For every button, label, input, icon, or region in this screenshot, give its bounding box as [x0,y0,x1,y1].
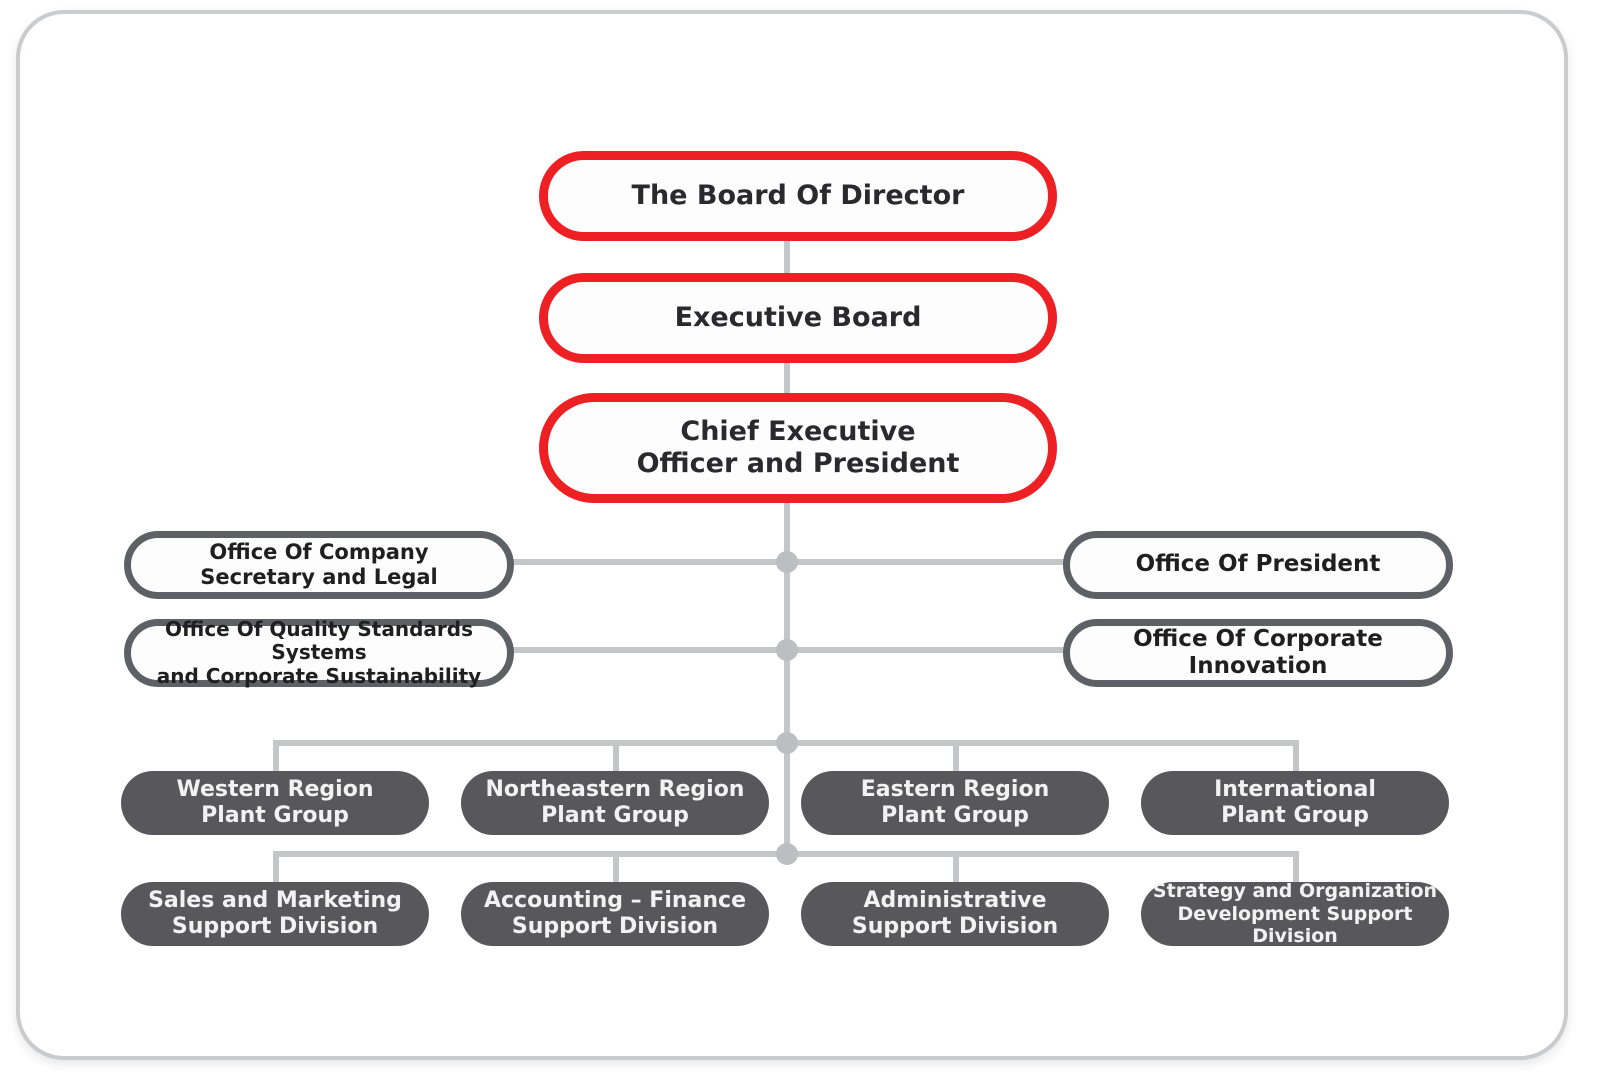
node-international-plant-group[interactable]: International Plant Group [1141,771,1449,835]
junction-dot-office-row2 [776,639,798,661]
connector-support-drop-1 [273,851,279,883]
node-label: Eastern Region Plant Group [851,777,1060,829]
node-office-of-president[interactable]: Office Of President [1063,531,1453,599]
node-label: The Board Of Director [622,180,975,212]
node-label: Office Of President [1126,551,1391,578]
connector-office-row2-left [513,647,787,653]
connector-office-row1-left [513,559,787,565]
node-label: International Plant Group [1204,777,1386,829]
node-label: Office Of Quality Standards Systems and … [131,618,507,689]
node-northeastern-region-plant-group[interactable]: Northeastern Region Plant Group [461,771,769,835]
connector-support-drop-4 [1293,851,1299,883]
node-label: Chief Executive Officer and President [627,416,970,480]
junction-dot-support-bus [776,843,798,865]
junction-dot-plant-bus [776,732,798,754]
connector-plant-drop-3 [953,740,959,772]
connector-support-drop-3 [953,851,959,883]
node-office-corporate-innovation[interactable]: Office Of Corporate Innovation [1063,619,1453,687]
connector-office-row2-right [784,647,1064,653]
junction-dot-office-row1 [776,551,798,573]
node-label: Accounting – Finance Support Division [474,888,756,940]
node-label: Sales and Marketing Support Division [138,888,412,940]
node-label: Western Region Plant Group [166,777,383,829]
node-executive-board[interactable]: Executive Board [539,273,1057,363]
node-administrative-support-division[interactable]: Administrative Support Division [801,882,1109,946]
connector-office-row1-right [784,559,1064,565]
node-label: Strategy and Organization Development Su… [1141,880,1449,947]
node-label: Administrative Support Division [842,888,1068,940]
node-strategy-organization-development-support-division[interactable]: Strategy and Organization Development Su… [1141,882,1449,946]
node-eastern-region-plant-group[interactable]: Eastern Region Plant Group [801,771,1109,835]
node-label: Office Of Corporate Innovation [1070,626,1446,680]
node-accounting-finance-support-division[interactable]: Accounting – Finance Support Division [461,882,769,946]
node-office-company-secretary-legal[interactable]: Office Of Company Secretary and Legal [124,531,514,599]
node-label: Office Of Company Secretary and Legal [190,540,447,590]
node-label: Executive Board [665,302,932,334]
connector-plant-drop-1 [273,740,279,772]
connector-plant-drop-2 [613,740,619,772]
org-chart-canvas: The Board Of Director Executive Board Ch… [0,0,1600,1080]
node-ceo-president[interactable]: Chief Executive Officer and President [539,393,1057,503]
connector-support-drop-2 [613,851,619,883]
connector-plant-drop-4 [1293,740,1299,772]
org-chart-page: The Board Of Director Executive Board Ch… [0,0,1600,1080]
node-board-of-director[interactable]: The Board Of Director [539,151,1057,241]
node-western-region-plant-group[interactable]: Western Region Plant Group [121,771,429,835]
node-office-quality-standards[interactable]: Office Of Quality Standards Systems and … [124,619,514,687]
node-sales-marketing-support-division[interactable]: Sales and Marketing Support Division [121,882,429,946]
node-label: Northeastern Region Plant Group [476,777,755,829]
